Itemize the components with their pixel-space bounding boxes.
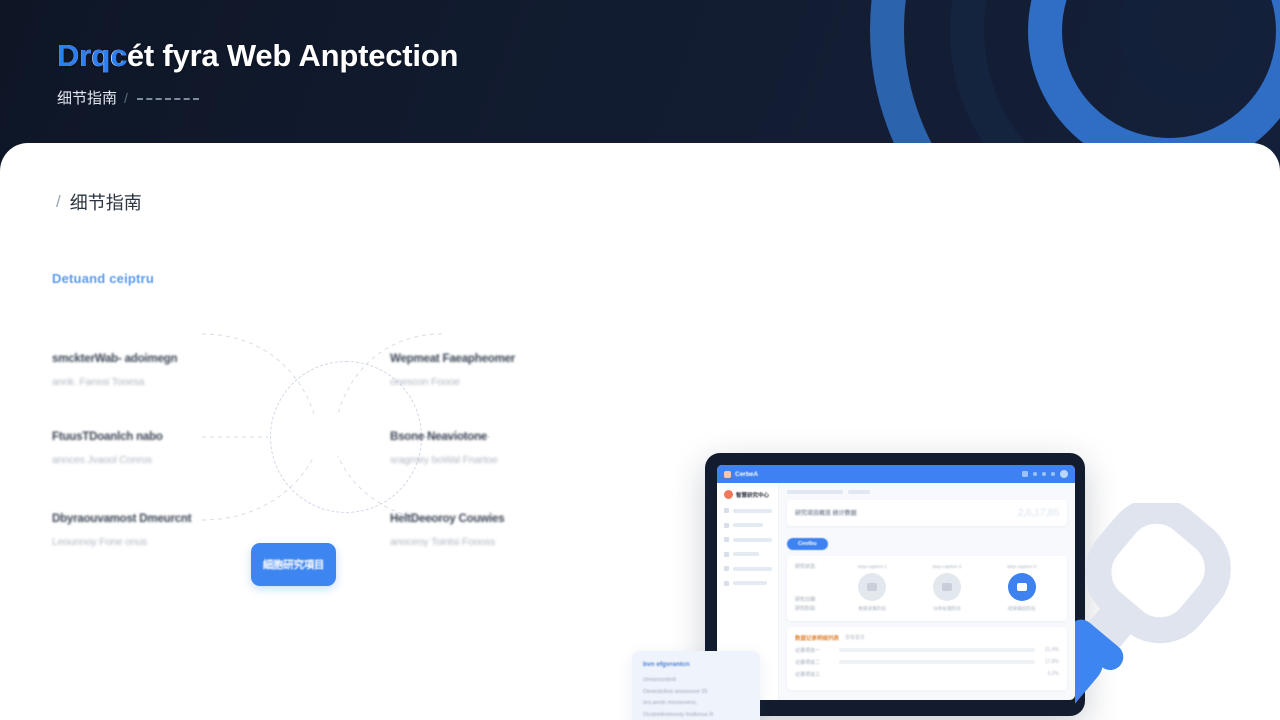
- step-label: 分析处理阶段: [910, 606, 985, 612]
- diagram-node-sub: annces Jvaool Conros: [52, 454, 262, 466]
- step-caption: step-caption-1: [835, 564, 910, 569]
- diagram-node-title: Dbyraouvamost Dmeurcnt: [52, 513, 262, 525]
- window-icon[interactable]: [1022, 471, 1028, 477]
- left-column: Detuand ceiptru smckterWab- adoimegn ann…: [52, 271, 572, 286]
- records-list-header: 数据记录明细列表 查看更多: [795, 634, 1059, 642]
- sidebar-item-label: [733, 552, 759, 556]
- menu-icon: [724, 508, 729, 513]
- sidebar-item-label: [733, 509, 772, 513]
- header-title-block: Drqcét fyra Web Anptection Drqc 细节指南 /: [57, 38, 458, 108]
- diagram-node-sub: onescon Foooe: [390, 376, 600, 388]
- menu-icon: [724, 523, 729, 528]
- sidebar-item-label: [733, 523, 763, 527]
- record-row[interactable]: 记录项目三 9.2%: [795, 671, 1059, 678]
- summary-card: 研究项目概览 统计数据 2,6,17,85: [787, 500, 1067, 526]
- steps-row: 研究状态: 研究日期: 研究阶段: step-caption-1 数据采集阶段: [795, 563, 1059, 614]
- diagram-node-6[interactable]: HeltDeeoroy Couwies anoceoy Tointsi Fooo…: [390, 513, 600, 548]
- record-value: 9.2%: [1041, 671, 1059, 677]
- menu-icon: [724, 552, 729, 557]
- dot-icon[interactable]: [1042, 472, 1046, 476]
- section-label: Detuand ceiptru: [52, 271, 572, 286]
- record-track: [839, 660, 1035, 664]
- floating-info-card[interactable]: bvn efgvrantcn ctreanozobnti Oenestcilns…: [632, 651, 760, 720]
- sidebar-item-2[interactable]: [724, 523, 772, 528]
- floating-card-title: bvn efgvrantcn: [643, 661, 749, 668]
- record-track: [839, 648, 1035, 652]
- record-value: 17.8%: [1041, 659, 1059, 665]
- avatar-icon[interactable]: [1060, 470, 1068, 478]
- diagram-node-sub: Leounnoy Fone onus: [52, 536, 262, 548]
- step-circle-active: [1008, 573, 1036, 601]
- brand-name: CerbeA: [735, 471, 758, 478]
- diagram-node-title: Bsone Neaviotone: [390, 431, 600, 443]
- check-icon: [1017, 583, 1027, 591]
- breadcrumb-segment[interactable]: [787, 490, 843, 494]
- floating-card-line: oro,anctn mnosoveos,: [643, 698, 749, 710]
- record-track: [839, 672, 1035, 676]
- steps-meta-line: 研究状态:: [795, 563, 835, 572]
- topbar-icon-group: [1022, 470, 1068, 478]
- sidebar-logo-icon: [724, 490, 733, 499]
- breadcrumb-segment[interactable]: [848, 490, 870, 494]
- steps-meta-line: 研究日期:: [795, 596, 835, 605]
- dashboard-body: 智慧研究中心: [717, 483, 1075, 700]
- tablet-mockup: CerbeA 智慧研究中心: [705, 453, 1085, 716]
- record-value: 21.4%: [1041, 647, 1059, 653]
- summary-card-header: 研究项目概览 统计数据 2,6,17,85: [795, 507, 1059, 519]
- tablet-screen: CerbeA 智慧研究中心: [717, 465, 1075, 700]
- step-label: 结果输出阶段: [984, 606, 1059, 612]
- sidebar-item-label: [733, 567, 772, 571]
- breadcrumb-text[interactable]: 细节指南: [70, 189, 142, 215]
- sidebar-item-6[interactable]: [724, 581, 772, 586]
- diagram-node-sub: anoceoy Tointsi Foooss: [390, 536, 600, 548]
- diagram-hub-label: 細胞研究項目: [263, 557, 324, 572]
- record-label: 记录项目二: [795, 659, 833, 666]
- sidebar-item-label: [733, 581, 767, 585]
- steps-meta: 研究状态: 研究日期: 研究阶段:: [795, 563, 835, 614]
- step-item-1[interactable]: step-caption-1 数据采集阶段: [835, 564, 910, 612]
- step-circle: [858, 573, 886, 601]
- sidebar-item-label: [733, 538, 772, 542]
- document-icon: [867, 583, 877, 591]
- records-list-more-link[interactable]: 查看更多: [845, 634, 865, 641]
- diagram-node-title: FtuusTDoanlch nabo: [52, 431, 262, 443]
- header-breadcrumb-dashes: [137, 98, 199, 100]
- record-row[interactable]: 记录项目二 17.8%: [795, 659, 1059, 666]
- diagram-node-sub: annk. Fanssi Tooesa: [52, 376, 262, 388]
- chart-icon: [942, 583, 952, 591]
- diagram-node-3[interactable]: FtuusTDoanlch nabo annces Jvaool Conros: [52, 431, 262, 466]
- diagram-node-1[interactable]: smckterWab- adoimegn annk. Fanssi Tooesa: [52, 353, 262, 388]
- content-panel: / 细节指南 Detuand ceiptru smckterWab- adoim…: [0, 143, 1280, 720]
- bell-icon[interactable]: [1033, 472, 1037, 476]
- step-circle: [933, 573, 961, 601]
- menu-icon: [724, 566, 729, 571]
- sidebar-logo: 智慧研究中心: [724, 490, 772, 499]
- menu-icon: [724, 581, 729, 586]
- step-item-3[interactable]: step-caption-3 结果输出阶段: [984, 564, 1059, 612]
- dashboard-topbar: CerbeA: [717, 465, 1075, 483]
- diagram-node-title: HeltDeeoroy Couwies: [390, 513, 600, 525]
- sidebar-item-4[interactable]: [724, 552, 772, 557]
- dashboard-brand: CerbeA: [724, 471, 758, 478]
- step-item-2[interactable]: step-caption-2 分析处理阶段: [910, 564, 985, 612]
- summary-card-value: 2,6,17,85: [1018, 507, 1059, 519]
- steps-card: 研究状态: 研究日期: 研究阶段: step-caption-1 数据采集阶段: [787, 556, 1067, 621]
- diagram-hub-node[interactable]: 細胞研究項目: [251, 543, 336, 586]
- diagram-node-title: Wepmeat Faeapheomer: [390, 353, 600, 365]
- sidebar-item-5[interactable]: [724, 566, 772, 571]
- summary-card-title: 研究项目概览 统计数据: [795, 508, 857, 517]
- records-list-title: 数据记录明细列表: [795, 634, 839, 642]
- diagram-node-2[interactable]: Wepmeat Faeapheomer onescon Foooe: [390, 353, 600, 388]
- sidebar-logo-text: 智慧研究中心: [736, 491, 769, 499]
- step-caption: step-caption-3: [984, 564, 1059, 569]
- step-label: 数据采集阶段: [835, 606, 910, 612]
- diagram-node-4[interactable]: Bsone Neaviotone sragmey boWal Fnartoe: [390, 431, 600, 466]
- floating-card-line: Ocotnelinetnonty fnollonus R: [643, 710, 749, 720]
- dashboard-breadcrumb: [787, 490, 1067, 494]
- header-breadcrumb: 细节指南 /: [57, 87, 458, 108]
- breadcrumb-slash: /: [56, 192, 61, 212]
- floating-card-line: ctreanozobnti: [643, 675, 749, 687]
- records-list-card: 数据记录明细列表 查看更多 记录项目一 21.4% 记录项目二 17.8%: [787, 627, 1067, 690]
- brand-logo-icon: [724, 471, 731, 478]
- diagram-node-sub: sragmey boWal Fnartoe: [390, 454, 600, 466]
- page-title: Drqcét fyra Web Anptection: [57, 38, 458, 74]
- dashboard-main: 研究项目概览 统计数据 2,6,17,85 Ceolbu 研究状态: 研究日期:…: [779, 483, 1075, 700]
- breadcrumb: / 细节指南: [56, 189, 142, 215]
- sidebar-item-1[interactable]: [724, 508, 772, 513]
- diagram-node-5[interactable]: Dbyraouvamost Dmeurcnt Leounnoy Fone onu…: [52, 513, 262, 548]
- record-label: 记录项目一: [795, 647, 833, 654]
- diagram-node-title: smckterWab- adoimegn: [52, 353, 262, 365]
- primary-action-button[interactable]: Ceolbu: [787, 538, 828, 550]
- record-label: 记录项目三: [795, 671, 833, 678]
- header-breadcrumb-label: 细节指南: [57, 87, 117, 108]
- steps-meta-line: 研究阶段:: [795, 605, 835, 614]
- sidebar-item-3[interactable]: [724, 537, 772, 542]
- floating-card-line: Oenestcilnsi amsonove 25: [643, 687, 749, 699]
- grid-icon[interactable]: [1051, 472, 1055, 476]
- step-caption: step-caption-2: [910, 564, 985, 569]
- record-row[interactable]: 记录项目一 21.4%: [795, 647, 1059, 654]
- header-breadcrumb-separator: /: [124, 90, 128, 106]
- menu-icon: [724, 537, 729, 542]
- magnifier-illustration: [1075, 503, 1255, 720]
